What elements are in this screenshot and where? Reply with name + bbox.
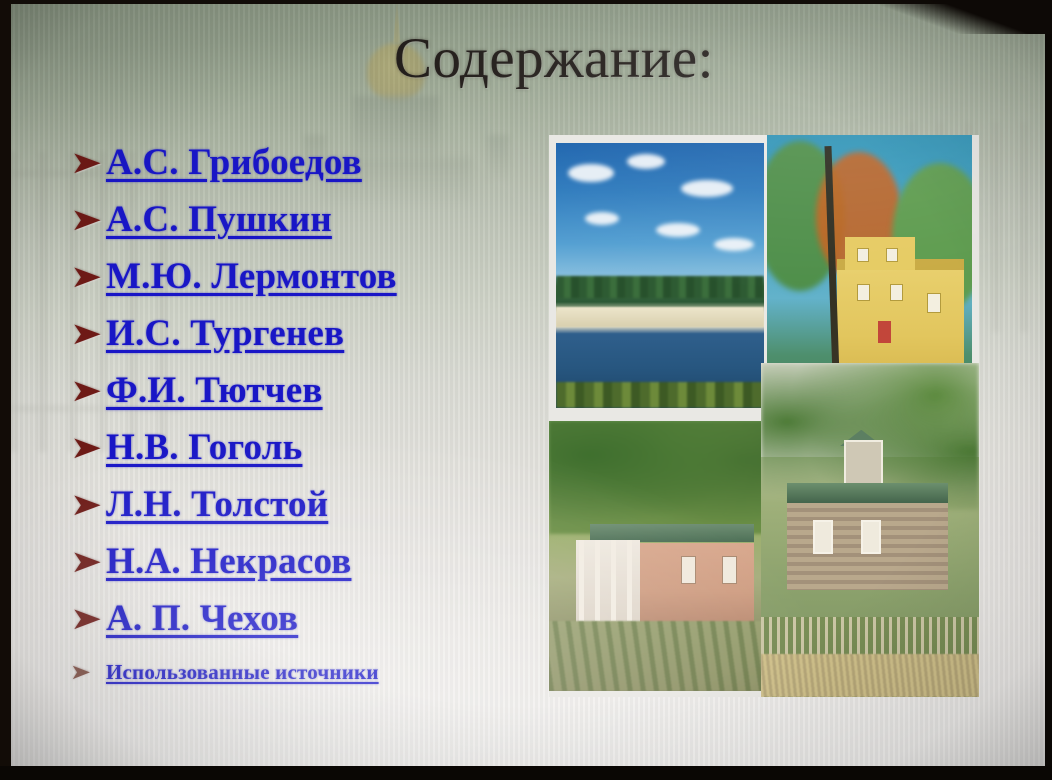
arrow-bullet-icon: ➤: [70, 147, 115, 178]
list-item-tolstoy[interactable]: ➤ Л.Н. Толстой: [70, 476, 550, 533]
arrow-bullet-icon: ➤: [70, 318, 115, 349]
door-shape: [878, 321, 891, 343]
window-shape: [681, 556, 696, 584]
beach-shape: [556, 307, 764, 327]
foreground-bushes-shape: [556, 382, 764, 408]
list-item-lermontov[interactable]: ➤ М.Ю. Лермонтов: [70, 248, 550, 305]
porch-pillar-shape: [611, 540, 616, 621]
list-item-pushkin[interactable]: ➤ А.С. Пушкин: [70, 191, 550, 248]
list-item-tyutchev[interactable]: ➤ Ф.И. Тютчев: [70, 362, 550, 419]
window-shape: [927, 293, 941, 313]
window-shape: [857, 248, 869, 262]
window-shape: [861, 520, 881, 554]
treeline-shape: [556, 276, 764, 298]
roof-shape: [787, 483, 948, 503]
list-item-gogol[interactable]: ➤ Н.В. Гоголь: [70, 419, 550, 476]
river-beach-photo: [556, 143, 764, 408]
arrow-bullet-icon: ➤: [70, 432, 115, 463]
slide-surface: Содержание: ➤ А.С. Грибоедов ➤ А.С. Пушк…: [8, 2, 1050, 766]
arrow-bullet-icon: ➤: [70, 662, 113, 683]
cloud-shape: [585, 212, 619, 225]
porch-pillar-shape: [579, 540, 584, 621]
pink-house-photo: [549, 421, 777, 691]
cloud-shape: [656, 223, 700, 237]
porch-pillar-shape: [627, 540, 632, 621]
garden-beds-shape: [549, 621, 777, 691]
list-item-nekrasov[interactable]: ➤ Н.А. Некрасов: [70, 533, 550, 590]
arrow-bullet-icon: ➤: [70, 546, 115, 577]
log-house-photo: [761, 363, 979, 697]
window-shape: [857, 284, 870, 301]
cloud-shape: [568, 164, 614, 182]
arrow-bullet-icon: ➤: [70, 603, 115, 634]
contents-link-lermontov[interactable]: М.Ю. Лермонтов: [106, 255, 397, 298]
contents-link-chekhov[interactable]: А. П. Чехов: [106, 597, 298, 640]
photographed-slide: Содержание: ➤ А.С. Грибоедов ➤ А.С. Пушк…: [0, 0, 1052, 780]
photo-collage: [549, 135, 979, 697]
screen-bezel-bottom: [0, 766, 1052, 780]
arrow-bullet-icon: ➤: [70, 204, 115, 235]
list-item-griboedov[interactable]: ➤ А.С. Грибоедов: [70, 134, 550, 191]
tree-canopy-shape: [549, 421, 777, 534]
contents-link-gogol[interactable]: Н.В. Гоголь: [106, 426, 302, 469]
contents-link-pushkin[interactable]: А.С. Пушкин: [106, 198, 332, 241]
list-item-sources[interactable]: ➤ Использованные источники: [70, 647, 550, 697]
porch-pillar-shape: [595, 540, 600, 621]
arrow-bullet-icon: ➤: [70, 375, 115, 406]
arrow-bullet-icon: ➤: [70, 261, 115, 292]
list-item-turgenev[interactable]: ➤ И.С. Тургенев: [70, 305, 550, 362]
window-shape: [886, 248, 898, 262]
screen-bezel-corner: [842, 0, 1052, 34]
list-item-chekhov[interactable]: ➤ А. П. Чехов: [70, 590, 550, 647]
contents-link-tolstoy[interactable]: Л.Н. Толстой: [106, 483, 328, 526]
contents-link-griboedov[interactable]: А.С. Грибоедов: [106, 141, 362, 184]
straw-shape: [761, 654, 979, 697]
contents-link-sources[interactable]: Использованные источники: [106, 660, 379, 685]
window-shape: [722, 556, 737, 584]
contents-link-turgenev[interactable]: И.С. Тургенев: [106, 312, 344, 355]
cloud-shape: [627, 154, 665, 169]
contents-link-tyutchev[interactable]: Ф.И. Тютчев: [106, 369, 323, 412]
screen-bezel-right: [1045, 0, 1052, 780]
contents-link-nekrasov[interactable]: Н.А. Некрасов: [106, 540, 351, 583]
contents-list: ➤ А.С. Грибоедов ➤ А.С. Пушкин ➤ М.Ю. Ле…: [70, 134, 550, 697]
cloud-shape: [714, 238, 754, 251]
arrow-bullet-icon: ➤: [70, 489, 115, 520]
page-title: Содержание:: [394, 29, 714, 89]
cloud-shape: [681, 180, 733, 197]
screen-bezel-left: [0, 0, 11, 780]
window-shape: [890, 284, 903, 301]
window-shape: [813, 520, 833, 554]
